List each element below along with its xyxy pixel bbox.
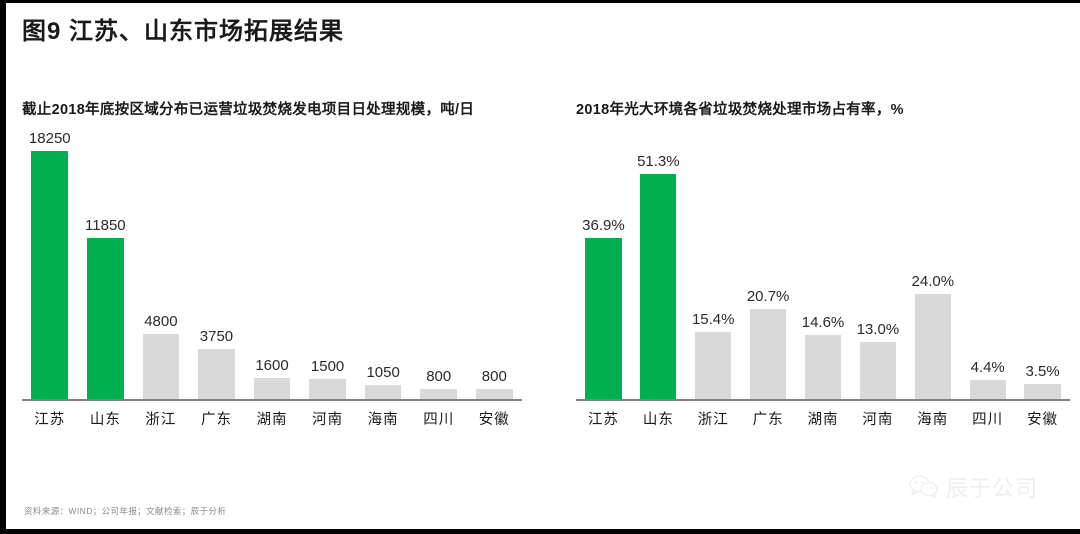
x-axis-line-left [22, 399, 522, 401]
category-labels-right: 江苏山东浙江广东湖南河南海南四川安徽 [576, 408, 1070, 429]
category-label-四川: 四川 [411, 408, 467, 429]
bar-value-label: 24.0% [912, 274, 955, 289]
bar-slot[interactable]: 800 [467, 129, 523, 399]
bar-value-label: 4.4% [971, 360, 1005, 375]
bar-slot[interactable]: 13.0% [850, 152, 905, 399]
bar-value-label: 18250 [29, 131, 71, 146]
bar-value-label: 4800 [144, 314, 177, 329]
chart-title-right: 2018年光大环境各省垃圾焚烧处理市场占有率，% [576, 99, 1070, 121]
category-label-江苏: 江苏 [22, 408, 78, 429]
category-label-河南: 河南 [300, 408, 356, 429]
bar-slot[interactable]: 15.4% [686, 152, 741, 399]
bar-slot[interactable]: 14.6% [796, 152, 851, 399]
category-label-海南: 海南 [905, 408, 960, 429]
category-label-河南: 河南 [850, 408, 905, 429]
bar-rect[interactable] [31, 151, 68, 399]
category-label-四川: 四川 [960, 408, 1015, 429]
chart-title-left: 截止2018年底按区域分布已运营垃圾焚烧发电项目日处理规模，吨/日 [22, 99, 522, 121]
bar-slot[interactable]: 1600 [244, 129, 300, 399]
bar-value-label: 15.4% [692, 312, 735, 327]
bar-rect[interactable] [640, 174, 676, 399]
bar-slot[interactable]: 36.9% [576, 152, 631, 399]
bar-value-label: 51.3% [637, 154, 680, 169]
bar-value-label: 1600 [255, 358, 288, 373]
category-label-安徽: 安徽 [467, 408, 523, 429]
bar-rect[interactable] [585, 238, 621, 400]
bar-value-label: 3750 [200, 329, 233, 344]
plot-area-left: 182501185048003750160015001050800800 [22, 131, 522, 401]
bar-value-label: 3.5% [1025, 364, 1059, 379]
bar-value-label: 36.9% [582, 218, 625, 233]
bar-value-label: 1500 [311, 359, 344, 374]
bar-rect[interactable] [365, 385, 402, 399]
figure-page: 图9 江苏、山东市场拓展结果 截止2018年底按区域分布已运营垃圾焚烧发电项目日… [0, 0, 1080, 534]
bar-group-left: 182501185048003750160015001050800800 [22, 129, 522, 399]
bar-slot[interactable]: 24.0% [905, 152, 960, 399]
bar-rect[interactable] [805, 335, 841, 399]
bar-slot[interactable]: 51.3% [631, 152, 686, 399]
category-label-江苏: 江苏 [576, 408, 631, 429]
bar-rect[interactable] [750, 309, 786, 400]
watermark-text: 辰于公司 [946, 471, 1038, 503]
bar-rect[interactable] [254, 378, 291, 400]
bar-rect[interactable] [970, 380, 1006, 399]
bar-slot[interactable]: 20.7% [741, 152, 796, 399]
bar-slot[interactable]: 3.5% [1015, 152, 1070, 399]
category-label-海南: 海南 [355, 408, 411, 429]
bar-slot[interactable]: 4.4% [960, 152, 1015, 399]
bar-value-label: 11850 [85, 218, 126, 233]
source-note: 资料来源：WIND；公司年报；文献检索；辰于分析 [24, 505, 226, 517]
bar-rect[interactable] [143, 334, 180, 399]
category-label-湖南: 湖南 [796, 408, 851, 429]
bar-value-label: 13.0% [857, 322, 900, 337]
bar-value-label: 800 [482, 369, 507, 384]
bar-rect[interactable] [420, 389, 457, 400]
category-label-安徽: 安徽 [1015, 408, 1070, 429]
watermark: 辰于公司 [909, 471, 1038, 503]
bar-value-label: 1050 [366, 365, 399, 380]
bar-slot[interactable]: 1050 [355, 129, 411, 399]
bar-slot[interactable]: 800 [411, 129, 467, 399]
plot-area-right: 36.9%51.3%15.4%20.7%14.6%13.0%24.0%4.4%3… [576, 154, 1070, 401]
bar-rect[interactable] [860, 342, 896, 399]
page-title: 图9 江苏、山东市场拓展结果 [22, 11, 344, 46]
bar-rect[interactable] [915, 294, 951, 399]
bar-rect[interactable] [198, 349, 235, 400]
category-label-浙江: 浙江 [133, 408, 189, 429]
wechat-icon [909, 475, 939, 499]
bar-rect[interactable] [1024, 384, 1060, 399]
chart-panel-left: 截止2018年底按区域分布已运营垃圾焚烧发电项目日处理规模，吨/日 182501… [22, 99, 522, 429]
x-axis-line-right [576, 399, 1070, 401]
bar-value-label: 14.6% [802, 315, 845, 330]
category-labels-left: 江苏山东浙江广东湖南河南海南四川安徽 [22, 408, 522, 429]
bar-slot[interactable]: 18250 [22, 129, 78, 399]
category-label-湖南: 湖南 [244, 408, 300, 429]
bar-rect[interactable] [87, 238, 124, 399]
bar-rect[interactable] [695, 332, 731, 400]
bar-slot[interactable]: 3750 [189, 129, 245, 399]
category-label-山东: 山东 [631, 408, 686, 429]
bar-slot[interactable]: 11850 [78, 129, 134, 399]
category-label-浙江: 浙江 [686, 408, 741, 429]
bar-value-label: 20.7% [747, 289, 790, 304]
bar-slot[interactable]: 1500 [300, 129, 356, 399]
chart-panel-right: 2018年光大环境各省垃圾焚烧处理市场占有率，% 36.9%51.3%15.4%… [576, 99, 1070, 429]
bar-rect[interactable] [476, 389, 513, 400]
category-label-山东: 山东 [78, 408, 134, 429]
category-label-广东: 广东 [189, 408, 245, 429]
category-label-广东: 广东 [741, 408, 796, 429]
bar-rect[interactable] [309, 379, 346, 399]
bar-group-right: 36.9%51.3%15.4%20.7%14.6%13.0%24.0%4.4%3… [576, 152, 1070, 399]
bar-slot[interactable]: 4800 [133, 129, 189, 399]
bar-value-label: 800 [426, 369, 451, 384]
